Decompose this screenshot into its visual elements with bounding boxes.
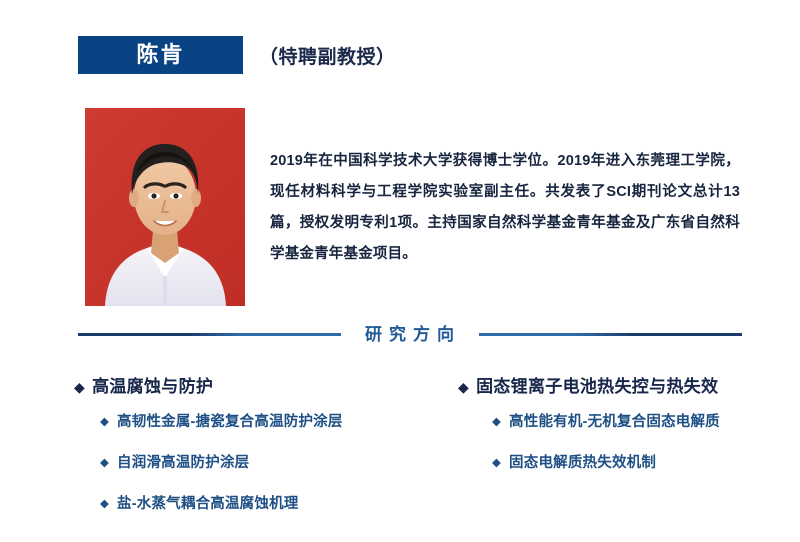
diamond-bullet-icon: ◆ bbox=[100, 412, 109, 433]
list-item: ◆ 高性能有机-无机复合固态电解质 bbox=[492, 412, 798, 433]
diamond-bullet-icon: ◆ bbox=[100, 494, 109, 515]
list-item: ◆ 盐-水蒸气耦合高温腐蚀机理 bbox=[100, 494, 444, 515]
section-divider: 研究方向 bbox=[78, 326, 742, 343]
list-item-label: 固态电解质热失效机制 bbox=[509, 453, 656, 474]
person-role-title: （特聘副教授） bbox=[259, 42, 396, 69]
direction-sub-list: ◆ 高性能有机-无机复合固态电解质 ◆ 固态电解质热失效机制 bbox=[458, 412, 798, 474]
diamond-bullet-icon: ◆ bbox=[74, 376, 85, 398]
direction-group-heading: ◆ 高温腐蚀与防护 bbox=[74, 376, 444, 398]
diamond-bullet-icon: ◆ bbox=[492, 453, 501, 474]
list-item-label: 自润滑高温防护涂层 bbox=[117, 453, 249, 474]
name-badge: 陈肯 bbox=[78, 36, 243, 74]
header-row: 陈肯 （特聘副教授） bbox=[78, 36, 396, 74]
direction-column-left: ◆ 高温腐蚀与防护 ◆ 高韧性金属-搪瓷复合高温防护涂层 ◆ 自润滑高温防护涂层… bbox=[74, 376, 444, 515]
diamond-bullet-icon: ◆ bbox=[100, 453, 109, 474]
direction-group-label: 固态锂离子电池热失控与热失效 bbox=[476, 376, 718, 398]
person-name: 陈肯 bbox=[136, 44, 184, 66]
list-item-label: 高韧性金属-搪瓷复合高温防护涂层 bbox=[117, 412, 343, 433]
direction-group-label: 高温腐蚀与防护 bbox=[92, 376, 213, 398]
diamond-bullet-icon: ◆ bbox=[492, 412, 501, 433]
direction-column-right: ◆ 固态锂离子电池热失控与热失效 ◆ 高性能有机-无机复合固态电解质 ◆ 固态电… bbox=[458, 376, 798, 474]
biography-paragraph: 2019年在中国科学技术大学获得博士学位。2019年进入东莞理工学院，现任材料科… bbox=[270, 146, 740, 270]
direction-sub-list: ◆ 高韧性金属-搪瓷复合高温防护涂层 ◆ 自润滑高温防护涂层 ◆ 盐-水蒸气耦合… bbox=[74, 412, 444, 515]
list-item: ◆ 固态电解质热失效机制 bbox=[492, 453, 798, 474]
portrait-photo bbox=[85, 108, 245, 306]
list-item: ◆ 自润滑高温防护涂层 bbox=[100, 453, 444, 474]
list-item-label: 盐-水蒸气耦合高温腐蚀机理 bbox=[117, 494, 298, 515]
list-item-label: 高性能有机-无机复合固态电解质 bbox=[509, 412, 720, 433]
profile-slide: 陈肯 （特聘副教授） bbox=[0, 0, 800, 542]
divider-rule-right bbox=[479, 333, 742, 336]
research-directions: ◆ 高温腐蚀与防护 ◆ 高韧性金属-搪瓷复合高温防护涂层 ◆ 自润滑高温防护涂层… bbox=[0, 376, 800, 526]
direction-group-heading: ◆ 固态锂离子电池热失控与热失效 bbox=[458, 376, 798, 398]
divider-rule-left bbox=[78, 333, 341, 336]
list-item: ◆ 高韧性金属-搪瓷复合高温防护涂层 bbox=[100, 412, 444, 433]
portrait-photo-graphic bbox=[85, 108, 245, 306]
section-title: 研究方向 bbox=[341, 326, 479, 343]
diamond-bullet-icon: ◆ bbox=[458, 376, 469, 398]
